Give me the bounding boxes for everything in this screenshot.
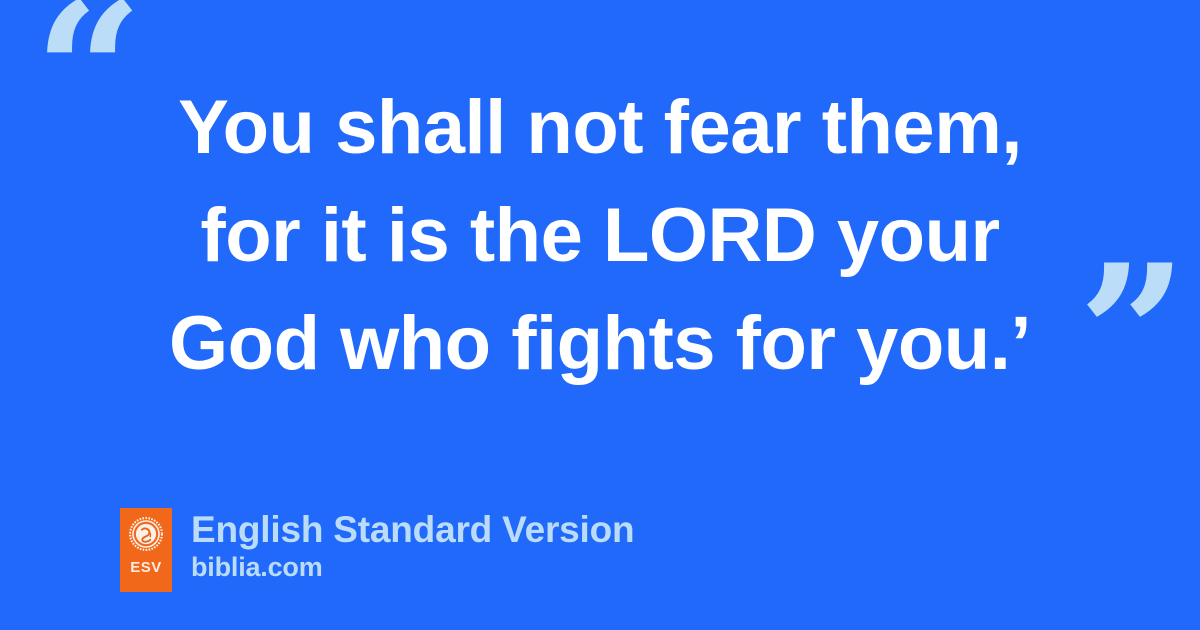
quote-text: You shall not fear them, for it is the L… [0,74,1200,398]
esv-seal-icon [129,517,163,551]
closing-quote-icon: ” [1078,240,1187,430]
quote-line-2: for it is the LORD your [0,182,1200,290]
quote-line-1: You shall not fear them, [0,74,1200,182]
quote-block: “ You shall not fear them, for it is the… [0,0,1200,460]
quote-card: “ You shall not fear them, for it is the… [0,0,1200,630]
site-url[interactable]: biblia.com [191,552,634,583]
bible-version-name: English Standard Version [191,508,634,551]
attribution-text: English Standard Version biblia.com [191,508,634,583]
esv-logo: ESV [120,508,172,592]
esv-logo-label: ESV [130,560,162,575]
quote-line-3: God who fights for you.’ [0,290,1200,398]
attribution: ESV English Standard Version biblia.com [120,508,634,592]
